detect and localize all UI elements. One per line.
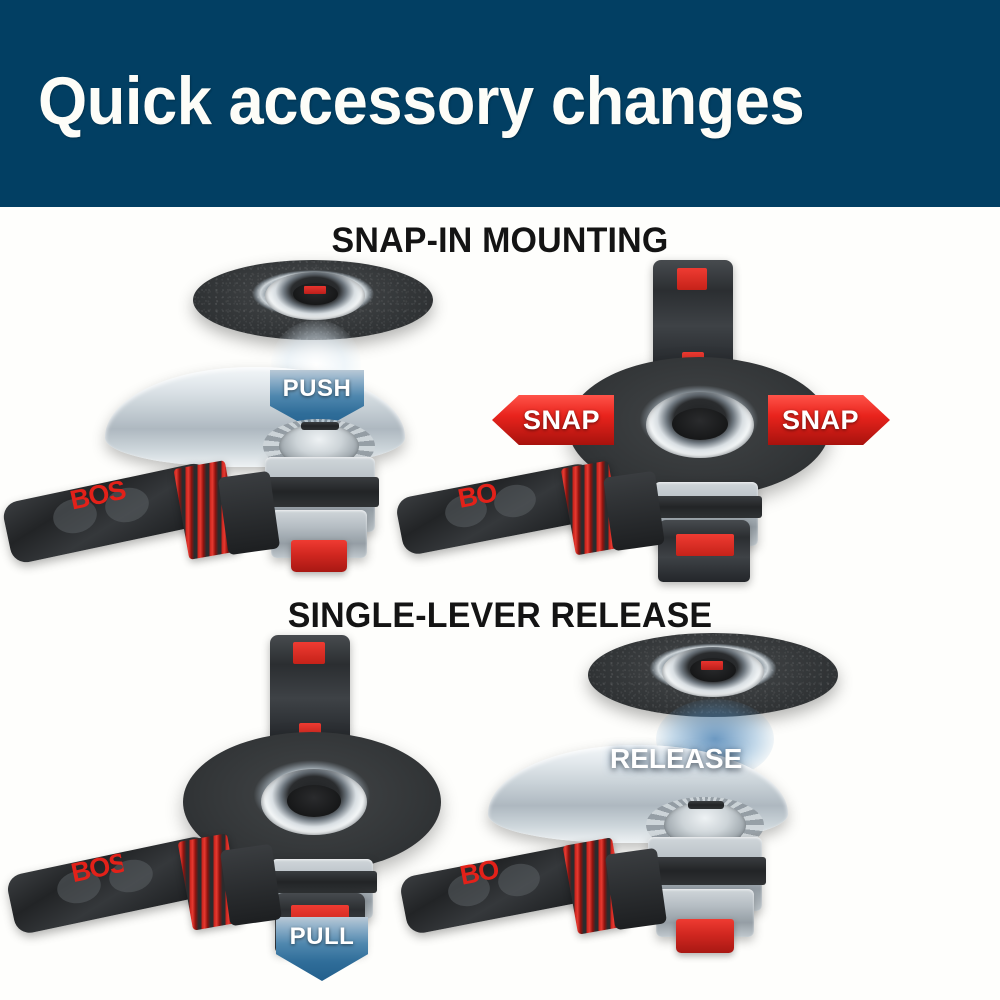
motor-collar <box>218 471 280 555</box>
motor-red-tab-bottom <box>676 534 734 556</box>
disc-red-key <box>701 661 723 670</box>
disc-center-bore <box>672 408 728 440</box>
spindle-slot <box>301 422 339 430</box>
motor-collar <box>220 844 282 926</box>
callout-pull: PULL <box>276 917 368 981</box>
callout-snap-left-label: SNAP <box>523 405 600 436</box>
motor-red-tab-top <box>677 268 707 290</box>
callout-snap-right: SNAP <box>768 395 890 445</box>
quick-release-lever[interactable] <box>676 919 734 953</box>
callout-snap-left: SNAP <box>492 395 614 445</box>
gearbox-band <box>644 857 766 885</box>
motor-collar <box>603 471 665 552</box>
page-title: Quick accessory changes <box>38 60 804 142</box>
spindle-slot <box>688 801 724 809</box>
grinder-illustration-pull: PULL BOS <box>75 627 505 987</box>
quick-release-lever[interactable] <box>291 540 347 572</box>
gearbox-band <box>650 496 762 518</box>
disc-red-key <box>304 286 326 294</box>
content-area: SNAP-IN MOUNTING SINGLE-LEVER RELEASE PU… <box>0 207 1000 1000</box>
callout-pull-label: PULL <box>290 923 355 951</box>
callout-snap-right-label: SNAP <box>782 405 859 436</box>
callout-push-label: PUSH <box>283 375 352 403</box>
header-banner: Quick accessory changes <box>0 0 1000 207</box>
callout-release-label: RELEASE <box>610 743 742 774</box>
callout-release: RELEASE <box>610 743 742 775</box>
disc-center-bore <box>287 785 341 817</box>
gearbox-band <box>267 871 377 893</box>
grinder-illustration-release: RELEASE BO <box>450 627 920 987</box>
motor-red-tab-top <box>293 642 325 664</box>
gearbox-band <box>261 477 379 507</box>
motor-collar <box>605 848 667 930</box>
grinder-illustration-snap: SNAP SNAP BO <box>450 252 920 592</box>
infographic-page: Quick accessory changes SNAP-IN MOUNTING… <box>0 0 1000 1000</box>
